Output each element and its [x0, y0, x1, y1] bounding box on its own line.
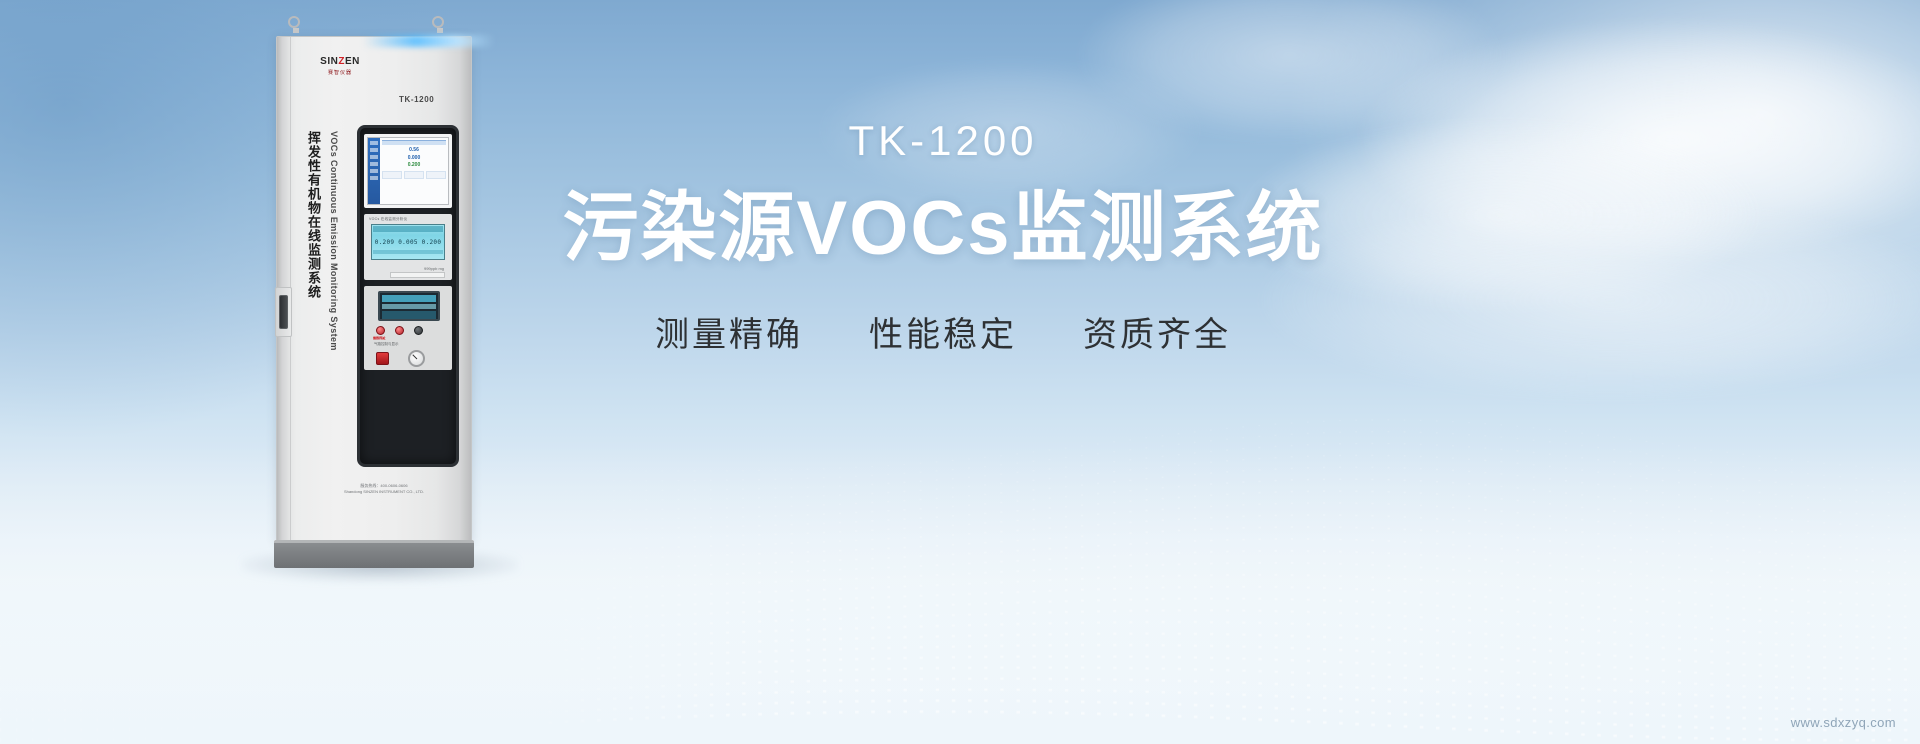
- brand-logo: SINZEN 赛智仪器: [305, 57, 375, 76]
- analyzer-panel: VOCs 在线监测分析仪 0.209 0.005 0.200 999ppb mg: [364, 214, 452, 280]
- cabinet-footnote-line2: Shandong SINZEN INSTRUMENT CO., LTD.: [299, 489, 469, 495]
- hmi-cell: [404, 171, 424, 179]
- control-panel: 电源开关 加热开关 运行/停止 气路控制与显示: [364, 286, 452, 370]
- light-streak: [363, 35, 495, 47]
- feature-list: 测量精确 性能稳定 资质齐全: [548, 307, 1338, 356]
- feature-item-3: 资质齐全: [1083, 307, 1231, 356]
- banner-stage: SINZEN 赛智仪器 TK-1200 挥发性有机物在线监测系统 VOCs Co…: [0, 0, 1920, 744]
- door-handle[interactable]: [279, 295, 288, 329]
- hmi-value-3: 0.200: [382, 162, 446, 170]
- hmi-title-bar: [382, 140, 446, 145]
- site-watermark: www.sdxzyq.com: [1791, 715, 1896, 730]
- cabinet-vertical-english-text: VOCs Continuous Emission Monitoring Syst…: [329, 131, 339, 351]
- cabinet-vertical-chinese-text: 挥发性有机物在线监测系统: [303, 131, 321, 299]
- product-model-title: TK-1200: [548, 118, 1338, 164]
- analyzer-slot: [390, 272, 445, 278]
- emergency-stop-button[interactable]: [376, 352, 389, 365]
- run-stop-knob-label: 运行/停止: [373, 336, 386, 340]
- feature-item-1: 测量精确: [655, 307, 803, 356]
- power-knob[interactable]: 电源开关: [376, 326, 385, 335]
- cabinet-footnote: 服务热线：400-0606-0606 Shandong SINZEN INSTR…: [299, 483, 469, 495]
- analyzer-lcd-value: 0.209 0.005 0.200: [372, 239, 444, 246]
- instrument-window: 0.56 0.000 0.200 VOCs 在线监测分析仪: [357, 125, 459, 467]
- pressure-gauge-icon: [408, 350, 425, 367]
- banner-copy: TK-1200 污染源VOCs监测系统 测量精确 性能稳定 资质齐全: [548, 118, 1338, 356]
- hmi-value-1: 0.56: [382, 147, 446, 155]
- control-note: 气路控制与显示: [374, 342, 399, 347]
- hmi-cell: [382, 171, 402, 179]
- cabinet-body: SINZEN 赛智仪器 TK-1200 挥发性有机物在线监测系统 VOCs Co…: [276, 36, 472, 542]
- hmi-side-nav: [368, 138, 380, 204]
- analyzer-sub-label: 999ppb mg: [424, 266, 444, 271]
- analyzer-label: VOCs 在线监测分析仪: [369, 217, 407, 222]
- cabinet-model-badge: TK-1200: [399, 95, 434, 104]
- hmi-screen: 0.56 0.000 0.200: [367, 137, 449, 205]
- hmi-cell: [426, 171, 446, 179]
- brand-subtitle: 赛智仪器: [305, 69, 375, 76]
- lifting-ring-icon: [432, 16, 444, 28]
- brand-name: SINZEN: [305, 57, 375, 67]
- hmi-grid: [382, 171, 446, 179]
- run-stop-knob[interactable]: 运行/停止: [414, 326, 423, 335]
- lifting-ring-icon: [288, 16, 300, 28]
- hmi-content: 0.56 0.000 0.200: [380, 138, 448, 204]
- hmi-panel: 0.56 0.000 0.200: [364, 134, 452, 208]
- analyzer-lcd: 0.209 0.005 0.200: [371, 224, 445, 260]
- control-display: [378, 291, 440, 321]
- hmi-value-2: 0.000: [382, 155, 446, 163]
- heater-knob[interactable]: 加热开关: [395, 326, 404, 335]
- feature-item-2: 性能稳定: [869, 307, 1017, 356]
- control-knob-row: 电源开关 加热开关 运行/停止: [376, 326, 423, 335]
- banner-headline: 污染源VOCs监测系统: [548, 186, 1338, 271]
- cabinet-base: [274, 540, 474, 568]
- product-cabinet: SINZEN 赛智仪器 TK-1200 挥发性有机物在线监测系统 VOCs Co…: [268, 24, 488, 576]
